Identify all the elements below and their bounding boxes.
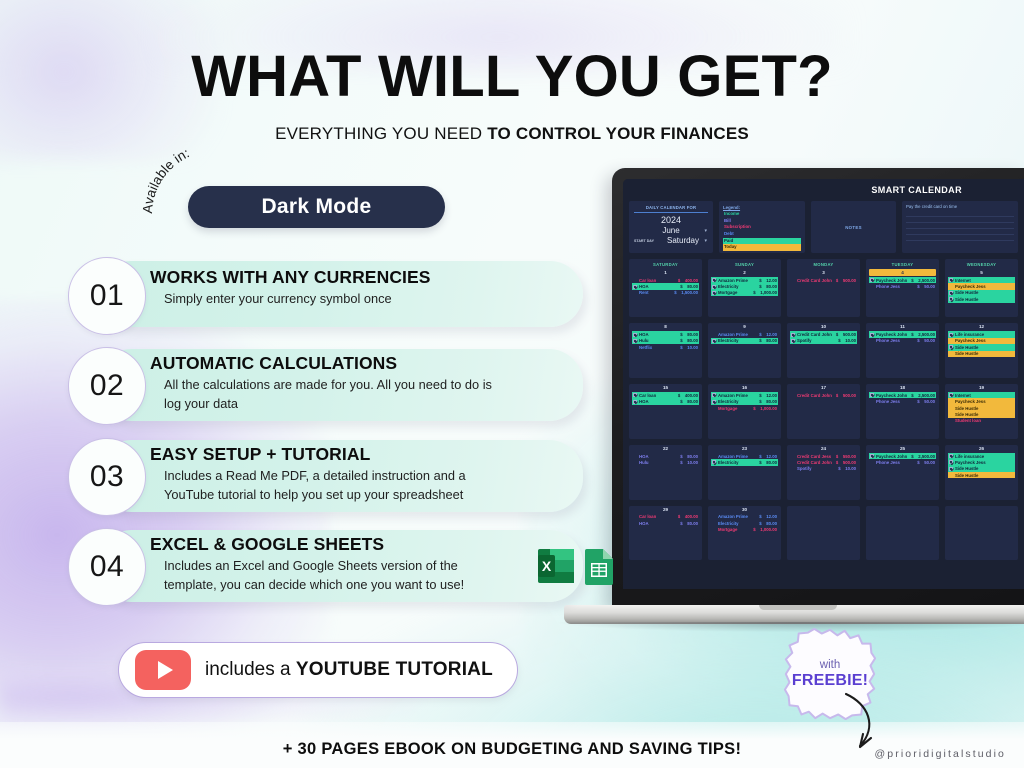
svg-text:X: X (542, 558, 552, 574)
feature-text: AUTOMATIC CALCULATIONS All the calculati… (150, 353, 570, 413)
excel-icon: X (538, 546, 574, 586)
feature-number: 02 (68, 347, 146, 425)
spreadsheet-app-icons: X (538, 546, 617, 586)
svg-text:Available in:: Available in: (140, 145, 192, 214)
youtube-play-icon (135, 650, 191, 690)
feature-title: EXCEL & GOOGLE SHEETS (150, 534, 570, 555)
youtube-tutorial-pill[interactable]: includes a YOUTUBE TUTORIAL (118, 642, 518, 698)
dark-mode-label: Dark Mode (261, 195, 371, 219)
page-subtitle: EVERYTHING YOU NEED TO CONTROL YOUR FINA… (0, 124, 1024, 144)
freebie-label: FREEBIE! (792, 672, 868, 690)
youtube-text-bold: YOUTUBE TUTORIAL (296, 659, 493, 680)
subtitle-bold: TO CONTROL YOUR FINANCES (487, 124, 749, 143)
feature-title: WORKS WITH ANY CURRENCIES (150, 267, 570, 288)
dark-mode-pill[interactable]: Dark Mode (188, 186, 445, 228)
feature-number: 04 (68, 528, 146, 606)
feature-number: 03 (68, 438, 146, 516)
feature-description: Includes a Read Me PDF, a detailed instr… (150, 467, 510, 504)
feature-description: Includes an Excel and Google Sheets vers… (150, 557, 510, 594)
feature-title: EASY SETUP + TUTORIAL (150, 444, 570, 465)
feature-description: All the calculations are made for you. A… (150, 376, 510, 413)
google-sheets-icon (581, 546, 617, 586)
feature-title: AUTOMATIC CALCULATIONS (150, 353, 570, 374)
youtube-pill-text: includes a YOUTUBE TUTORIAL (205, 659, 493, 681)
subtitle-light: EVERYTHING YOU NEED (275, 124, 487, 143)
freebie-with-label: with (820, 659, 840, 671)
page-title: WHAT WILL YOU GET? (0, 48, 1024, 106)
feature-text: WORKS WITH ANY CURRENCIES Simply enter y… (150, 267, 570, 309)
feature-text: EASY SETUP + TUTORIAL Includes a Read Me… (150, 444, 570, 504)
feature-description: Simply enter your currency symbol once (150, 290, 510, 309)
footer-text: + 30 PAGES EBOOK ON BUDGETING AND SAVING… (0, 740, 1024, 759)
youtube-text-light: includes a (205, 659, 296, 680)
feature-text: EXCEL & GOOGLE SHEETS Includes an Excel … (150, 534, 570, 594)
feature-number: 01 (68, 257, 146, 335)
page-content: WHAT WILL YOU GET? EVERYTHING YOU NEED T… (0, 0, 1024, 768)
watermark: @prioridigitalstudio (875, 748, 1006, 760)
